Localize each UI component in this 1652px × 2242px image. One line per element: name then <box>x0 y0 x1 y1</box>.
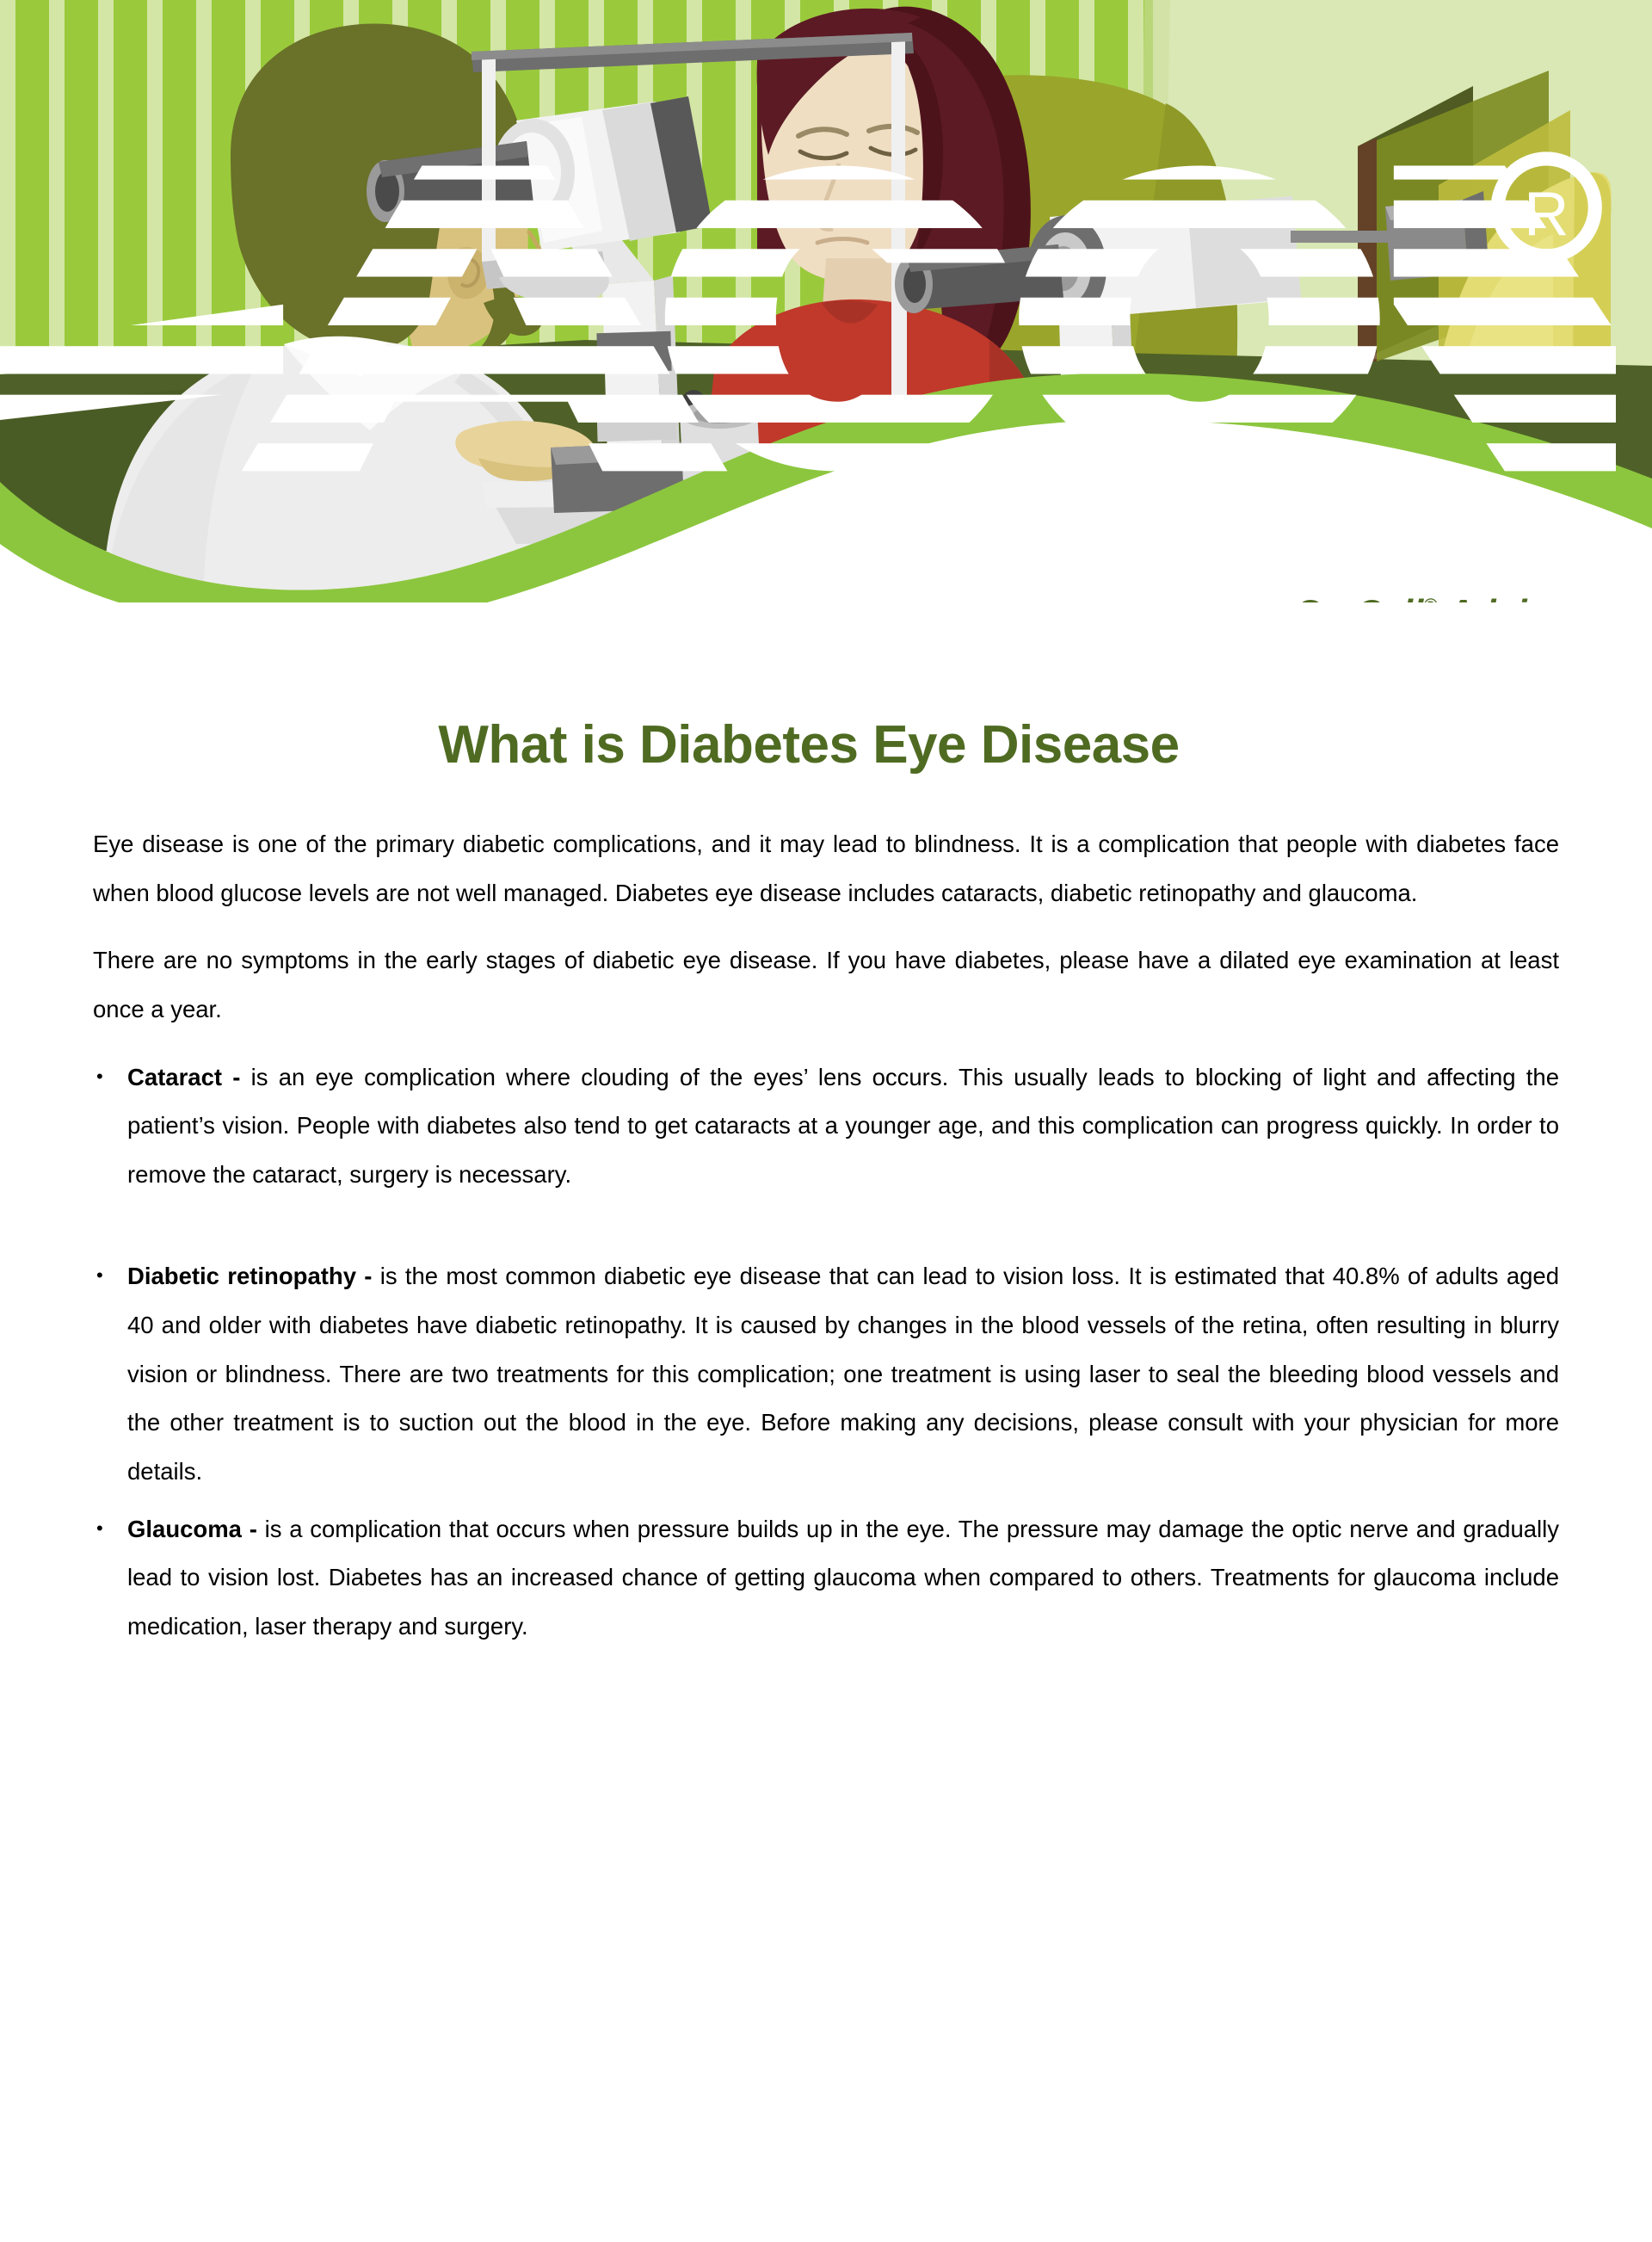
article-body: What is Diabetes Eye Disease Eye disease… <box>0 714 1652 1712</box>
document-page: R Diabetes Care On Call® Advisor Diabete… <box>0 0 1652 2242</box>
list-item-glaucoma: Glaucoma - is a complication that occurs… <box>93 1505 1559 1652</box>
acon-logo: R Diabetes Care <box>0 24 1616 602</box>
desc-diabetic-retinopathy: is the most common diabetic eye disease … <box>127 1263 1559 1485</box>
complications-list: Cataract - is an eye complication where … <box>93 1053 1559 1652</box>
desc-cataract: is an eye complication where clouding of… <box>127 1064 1559 1188</box>
page-title: What is Diabetes Eye Disease <box>93 714 1559 775</box>
list-item-diabetic-retinopathy: Diabetic retinopathy - is the most commo… <box>93 1252 1559 1496</box>
intro-paragraph-1: Eye disease is one of the primary diabet… <box>93 820 1559 917</box>
header-illustration: R Diabetes Care On Call® Advisor Diabete… <box>0 0 1652 602</box>
acon-wordmark-icon: R <box>0 24 1616 602</box>
logo-registered-mark: R <box>1524 179 1569 249</box>
intro-paragraph-2: There are no symptoms in the early stage… <box>93 936 1559 1034</box>
term-diabetic-retinopathy: Diabetic retinopathy - <box>127 1263 372 1289</box>
list-item-cataract: Cataract - is an eye complication where … <box>93 1053 1559 1200</box>
term-cataract: Cataract - <box>127 1064 240 1090</box>
desc-glaucoma: is a complication that occurs when press… <box>127 1516 1559 1640</box>
term-glaucoma: Glaucoma - <box>127 1516 257 1542</box>
